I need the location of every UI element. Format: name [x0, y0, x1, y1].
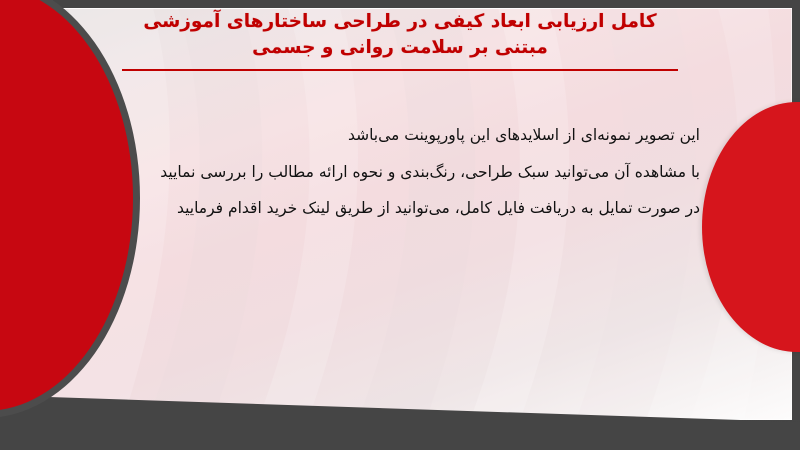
- title-underline-rule: [122, 69, 678, 71]
- slide-body-text: این تصویر نمونه‌ای از اسلایدهای این پاور…: [88, 117, 700, 227]
- title-line-1: کامل ارزیابی ابعاد کیفی در طراحی ساختاره…: [100, 9, 700, 35]
- title-line-2: مبتنی بر سلامت روانی و جسمی: [100, 35, 700, 61]
- slide-canvas: کامل ارزیابی ابعاد کیفی در طراحی ساختاره…: [0, 0, 800, 450]
- slide-title: کامل ارزیابی ابعاد کیفی در طراحی ساختاره…: [100, 9, 700, 71]
- body-line-2: با مشاهده آن می‌توانید سبک طراحی، رنگ‌بن…: [88, 154, 700, 191]
- body-line-3: در صورت تمایل به دریافت فایل کامل، می‌تو…: [88, 190, 700, 227]
- body-line-1: این تصویر نمونه‌ای از اسلایدهای این پاور…: [88, 117, 700, 154]
